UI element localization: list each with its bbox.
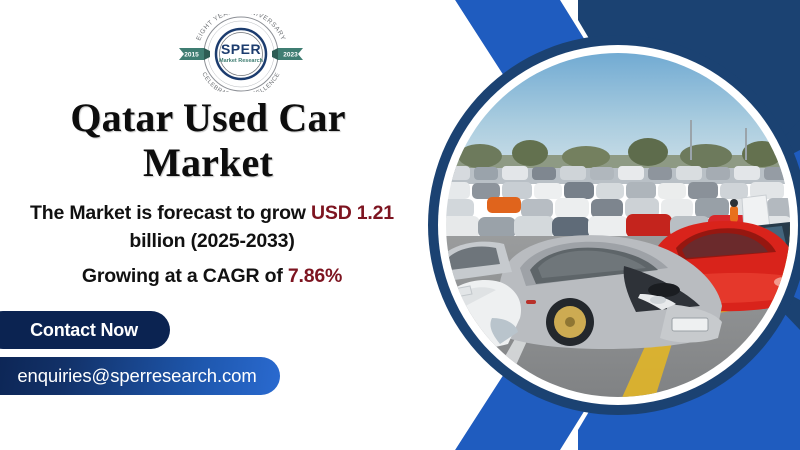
title-line-1: Qatar Used Car [8,96,408,141]
page-title: Qatar Used Car Market [8,96,408,186]
forecast-prefix: The Market is forecast to grow [30,202,311,224]
contact-now-button[interactable]: Contact Now [0,311,170,349]
email-contact-bar[interactable]: enquiries@sperresearch.com [0,357,280,395]
cagr-value: 7.86% [288,265,342,287]
cagr-prefix: Growing at a CAGR of [82,265,288,287]
marketing-banner: EIGHT YEARS ANNIVERSARY CELEBRATING EXCE… [0,0,800,450]
forecast-value: USD 1.21 [311,202,394,224]
email-address-label: enquiries@sperresearch.com [17,365,256,387]
logo-tagline: Market Research [219,58,264,64]
forecast-suffix: billion (2025-2033) [129,230,294,252]
title-line-2: Market [8,141,408,186]
logo-brand: SPER [221,41,261,57]
logo-year-end: 2023 [283,52,298,59]
logo-year-start: 2015 [184,52,199,59]
sper-logo: EIGHT YEARS ANNIVERSARY CELEBRATING EXCE… [176,14,306,92]
license-plate [672,318,708,331]
cagr-statement: Growing at a CAGR of 7.86% [14,265,410,288]
forecast-statement: The Market is forecast to grow USD 1.21 … [14,200,410,255]
contact-now-label: Contact Now [30,320,138,341]
